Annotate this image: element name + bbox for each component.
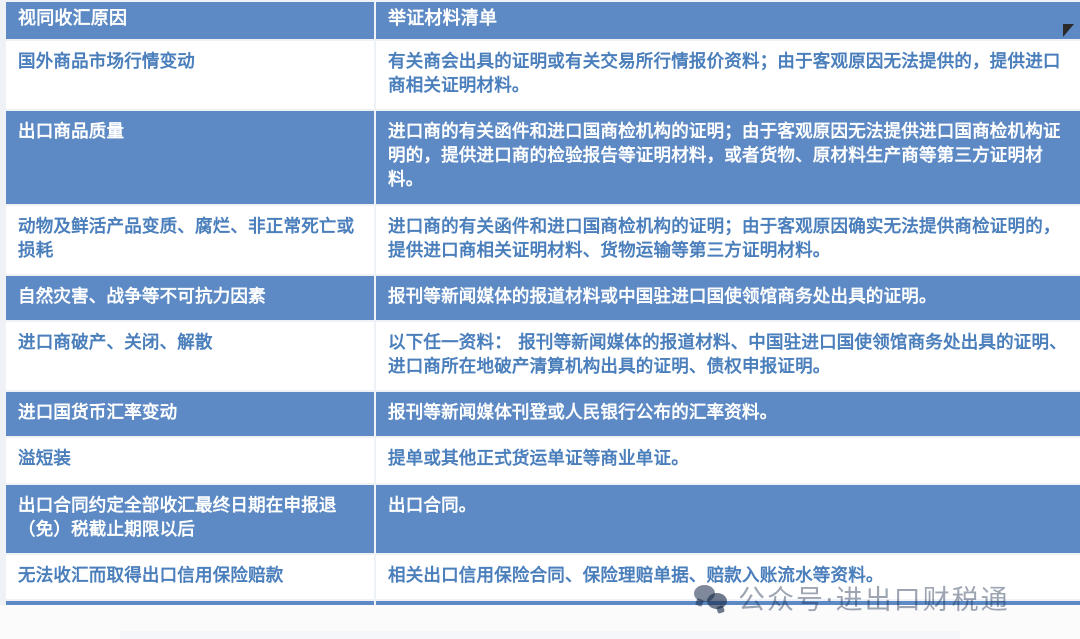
cell-reason: 自然灾害、战争等不可抗力因素 bbox=[6, 276, 374, 320]
table-row: 无法收汇而取得出口信用保险赔款 相关出口信用保险合同、保险理赔单据、赔款入账流水… bbox=[6, 555, 1080, 599]
evidence-table-container: 视同收汇原因 举证材料清单 国外商品市场行情变动 有关商会出具的证明或有关交易所… bbox=[0, 0, 1080, 639]
cell-reason: 无法收汇而取得出口信用保险赔款 bbox=[6, 555, 374, 599]
evidence-table: 视同收汇原因 举证材料清单 国外商品市场行情变动 有关商会出具的证明或有关交易所… bbox=[4, 0, 1080, 639]
table-row: 溢短装 提单或其他正式货运单证等商业单证。 bbox=[6, 438, 1080, 482]
cell-evidence: 报刊等新闻媒体刊登或人民银行公布的汇率资料。 bbox=[376, 392, 1080, 436]
cell-evidence: 有关商会出具的证明或有关交易所行情报价资料；由于客观原因无法提供的，提供进口商相… bbox=[376, 41, 1080, 109]
table-row: 进口国货币汇率变动 报刊等新闻媒体刊登或人民银行公布的汇率资料。 bbox=[6, 392, 1080, 436]
page-bottom-area bbox=[0, 605, 1080, 639]
cell-reason: 国外商品市场行情变动 bbox=[6, 41, 374, 109]
table-row: 进口商破产、关闭、解散 以下任一资料： 报刊等新闻媒体的报道材料、中国驻进口国使… bbox=[6, 322, 1080, 390]
table-header-row: 视同收汇原因 举证材料清单 bbox=[6, 2, 1080, 39]
cell-evidence: 相关出口信用保险合同、保险理赔单据、赔款入账流水等资料。 bbox=[376, 555, 1080, 599]
table-row: 出口合同约定全部收汇最终日期在申报退（免）税截止期限以后 出口合同。 bbox=[6, 485, 1080, 553]
cell-reason: 进口商破产、关闭、解散 bbox=[6, 322, 374, 390]
cell-reason: 溢短装 bbox=[6, 438, 374, 482]
cell-reason: 进口国货币汇率变动 bbox=[6, 392, 374, 436]
cell-evidence: 提单或其他正式货运单证等商业单证。 bbox=[376, 438, 1080, 482]
page-edge-marker-icon bbox=[1063, 24, 1074, 37]
cell-evidence: 报刊等新闻媒体的报道材料或中国驻进口国使领馆商务处出具的证明。 bbox=[376, 276, 1080, 320]
page-bottom-strip bbox=[120, 631, 960, 639]
cell-reason: 出口合同约定全部收汇最终日期在申报退（免）税截止期限以后 bbox=[6, 485, 374, 553]
cell-reason: 动物及鲜活产品变质、腐烂、非正常死亡或损耗 bbox=[6, 206, 374, 274]
cell-evidence: 进口商的有关函件和进口国商检机构的证明；由于客观原因无法提供进口国商检机构证明的… bbox=[376, 111, 1080, 203]
table-row: 国外商品市场行情变动 有关商会出具的证明或有关交易所行情报价资料；由于客观原因无… bbox=[6, 41, 1080, 109]
cell-reason: 出口商品质量 bbox=[6, 111, 374, 203]
table-row: 动物及鲜活产品变质、腐烂、非正常死亡或损耗 进口商的有关函件和进口国商检机构的证… bbox=[6, 206, 1080, 274]
column-header-evidence: 举证材料清单 bbox=[376, 2, 1080, 39]
table-row: 出口商品质量 进口商的有关函件和进口国商检机构的证明；由于客观原因无法提供进口国… bbox=[6, 111, 1080, 203]
cell-evidence: 进口商的有关函件和进口国商检机构的证明；由于客观原因确实无法提供商检证明的，提供… bbox=[376, 206, 1080, 274]
table-row: 自然灾害、战争等不可抗力因素 报刊等新闻媒体的报道材料或中国驻进口国使领馆商务处… bbox=[6, 276, 1080, 320]
cell-evidence: 以下任一资料： 报刊等新闻媒体的报道材料、中国驻进口国使领馆商务处出具的证明、进… bbox=[376, 322, 1080, 390]
document-page: 视同收汇原因 举证材料清单 国外商品市场行情变动 有关商会出具的证明或有关交易所… bbox=[0, 0, 1080, 639]
cell-evidence: 出口合同。 bbox=[376, 485, 1080, 553]
column-header-reason: 视同收汇原因 bbox=[6, 2, 374, 39]
